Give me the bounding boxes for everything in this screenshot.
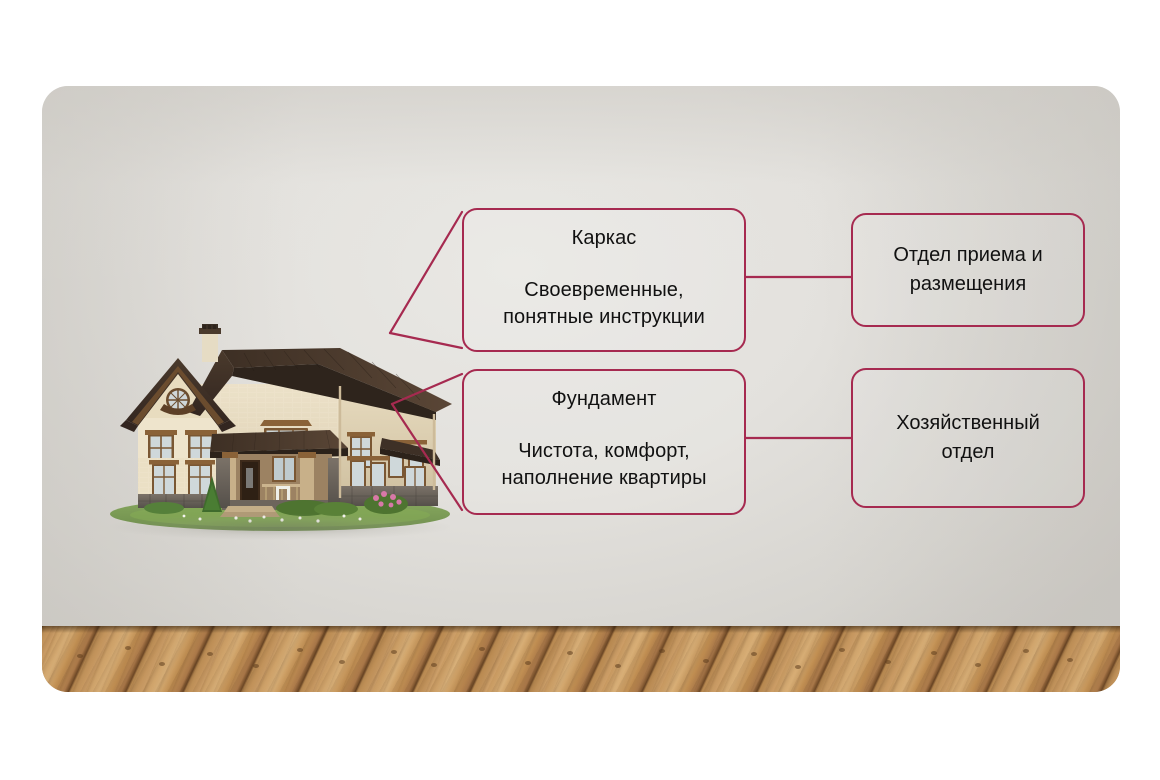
foundation-node-title: Фундамент	[551, 387, 656, 412]
slide-root: Каркас Своевременные, понятные инструкци…	[0, 0, 1160, 780]
housekeeping-department-node[interactable]: Хозяйственный отдел	[851, 368, 1085, 508]
floor-nail-heads	[42, 626, 1120, 692]
wooden-floor	[42, 626, 1120, 692]
frame-node-subtitle: Своевременные, понятные инструкции	[503, 277, 705, 331]
foundation-node-subtitle: Чистота, комфорт, наполнение квартиры	[501, 438, 706, 492]
reception-department-node[interactable]: Отдел приема и размещения	[851, 213, 1085, 327]
foundation-node[interactable]: Фундамент Чистота, комфорт, наполнение к…	[462, 369, 746, 515]
housekeeping-department-label: Хозяйственный отдел	[896, 409, 1040, 467]
house-image	[104, 308, 456, 536]
house-ground-shadow	[110, 514, 450, 540]
window-porch	[272, 456, 296, 482]
frame-node[interactable]: Каркас Своевременные, понятные инструкци…	[462, 208, 746, 352]
slide-card: Каркас Своевременные, понятные инструкци…	[42, 86, 1120, 692]
house-illustration	[104, 308, 456, 536]
reception-department-label: Отдел приема и размещения	[893, 241, 1042, 299]
frame-node-title: Каркас	[572, 226, 637, 251]
